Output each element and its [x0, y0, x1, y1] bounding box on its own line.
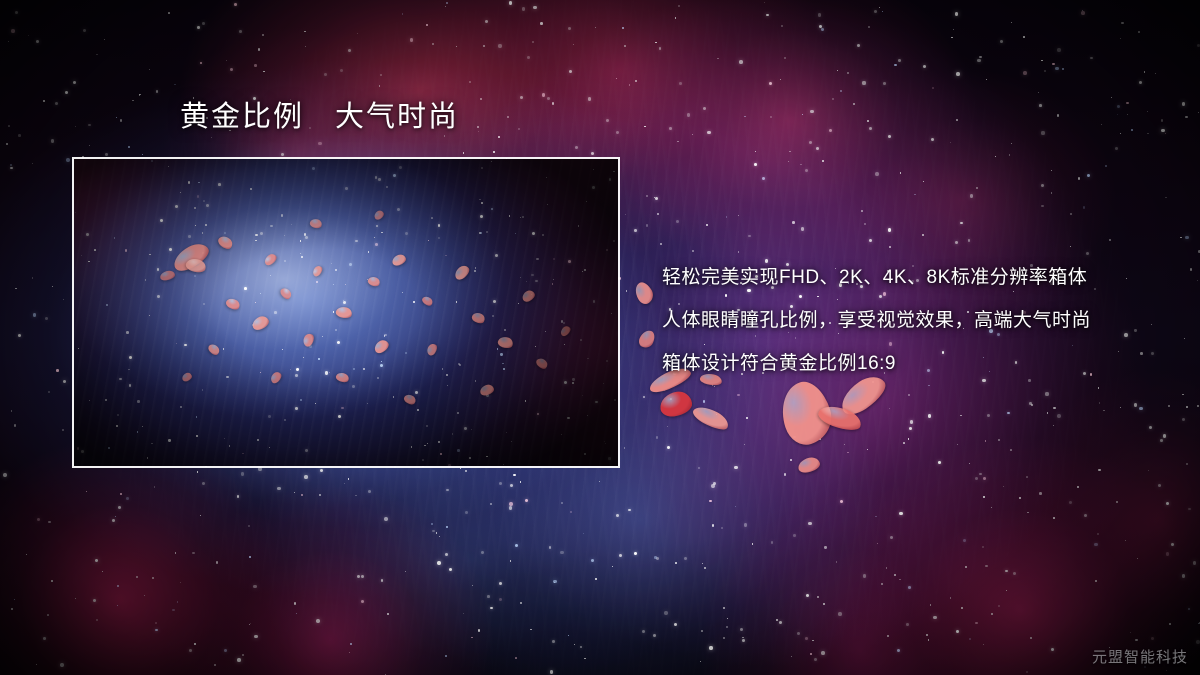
body-line-1: 轻松完美实现FHD、2K、4K、8K标准分辨率箱体: [662, 256, 1182, 299]
slide-canvas: 黄金比例 大气时尚 轻松完美实现FHD、2K、4K、8K标准分辨率箱体 人体眼睛…: [0, 0, 1200, 675]
frame-vignette: [74, 159, 618, 466]
image-frame-content: [74, 159, 618, 466]
body-text-block: 轻松完美实现FHD、2K、4K、8K标准分辨率箱体 人体眼睛瞳孔比例，享受视觉效…: [662, 256, 1182, 385]
watermark: 元盟智能科技: [1092, 646, 1188, 667]
image-frame[interactable]: [72, 157, 620, 468]
body-line-3: 箱体设计符合黄金比例16:9: [662, 342, 1182, 385]
page-title: 黄金比例 大气时尚: [180, 103, 459, 132]
body-line-2: 人体眼睛瞳孔比例，享受视觉效果，高端大气时尚: [662, 299, 1182, 342]
